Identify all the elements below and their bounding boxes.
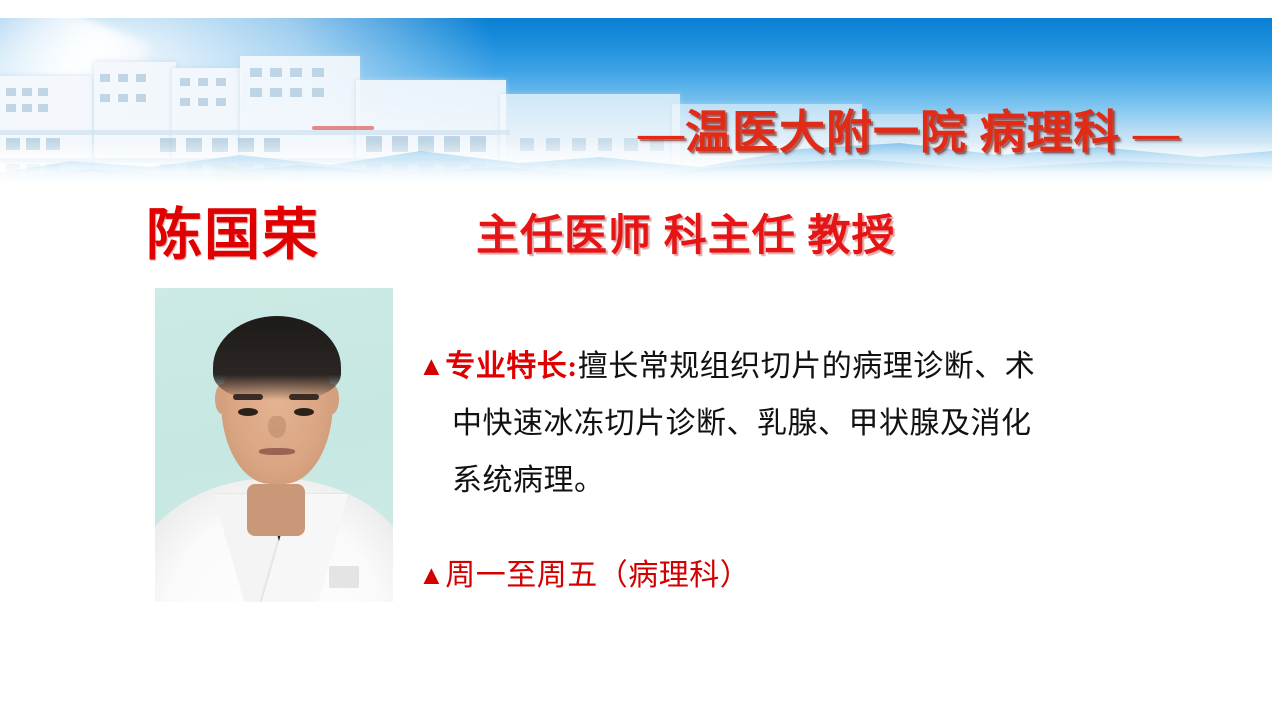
specialty-block: ▲专业特长:擅长常规组织切片的病理诊断、术 中快速冰冻切片诊断、乳腺、甲状腺及消… [418, 338, 1118, 509]
photo-mouth [259, 448, 295, 455]
specialty-text-3: 系统病理。 [452, 464, 605, 497]
specialty-label: 专业特长: [445, 350, 578, 383]
triangle-bullet-icon: ▲ [418, 338, 445, 395]
specialty-text-2: 中快速冰冻切片诊断、乳腺、甲状腺及消化 [452, 407, 1032, 440]
schedule-text: 周一至周五（病理科） [445, 559, 750, 592]
header-banner: —温医大附一院 病理科 — [0, 18, 1272, 183]
triangle-bullet-icon-2: ▲ [418, 553, 445, 597]
doctor-name: 陈国荣 [146, 196, 320, 276]
photo-coat-badge [329, 566, 359, 588]
schedule-line: ▲周一至周五（病理科） [418, 553, 750, 598]
photo-eye-left [238, 408, 258, 416]
doctor-titles: 主任医师 科主任 教授 [476, 201, 896, 273]
specialty-line-3: 系统病理。 [418, 452, 1118, 509]
photo-eyebrow-left [233, 394, 263, 400]
photo-eye-right [294, 408, 314, 416]
specialty-line-1: ▲专业特长:擅长常规组织切片的病理诊断、术 [418, 338, 1118, 395]
photo-neck [247, 484, 305, 536]
photo-nose [268, 416, 286, 438]
slide-page: —温医大附一院 病理科 — 陈国荣 主任医师 科主任 教授 ▲专业特长:擅长常规… [0, 0, 1280, 720]
photo-eyebrow-right [289, 394, 319, 400]
specialty-line-2: 中快速冰冻切片诊断、乳腺、甲状腺及消化 [418, 395, 1118, 452]
specialty-text-1: 擅长常规组织切片的病理诊断、术 [578, 350, 1036, 383]
doctor-header: 陈国荣 主任医师 科主任 教授 [0, 196, 1280, 280]
banner-title: —温医大附一院 病理科 — [638, 96, 1180, 162]
doctor-photo [155, 288, 393, 602]
